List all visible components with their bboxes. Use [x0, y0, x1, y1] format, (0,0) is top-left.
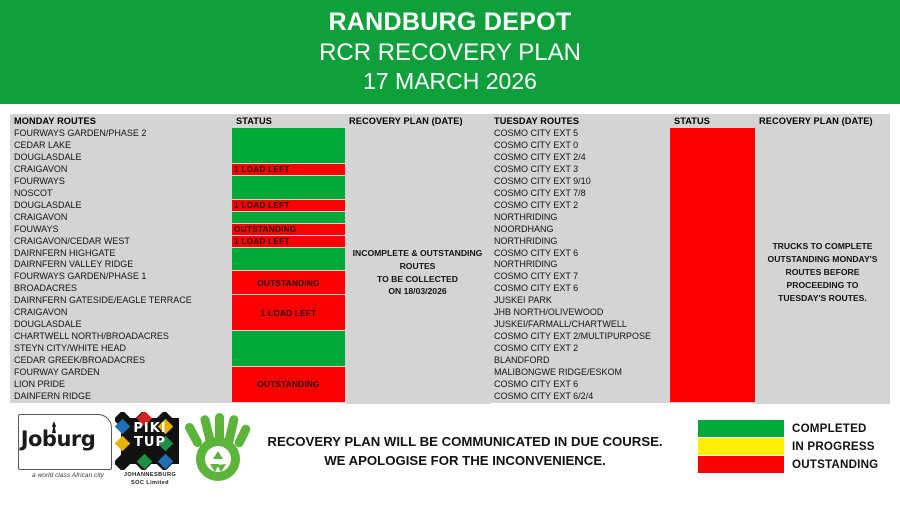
- legend-label: IN PROGRESS: [792, 440, 875, 453]
- monday-routes-column: MONDAY ROUTES FOURWAYS GARDEN/PHASE 2CED…: [10, 114, 232, 403]
- route-row: BROADACRES: [10, 283, 232, 295]
- legend-row: IN PROGRESS: [698, 438, 888, 455]
- route-row: CHARTWELL NORTH/BROADACRES: [10, 331, 232, 343]
- pikitup-sub1: JOHANNESBURG: [113, 471, 187, 479]
- route-row: COSMO CITY EXT 0: [490, 140, 670, 152]
- route-row: FOUWAYS: [10, 224, 232, 236]
- plan-note-line: TRUCKS TO COMPLETE OUTSTANDING MONDAY'S …: [761, 240, 884, 279]
- status-cell: [232, 176, 345, 200]
- route-row: CRAIGAVON: [10, 212, 232, 224]
- status-cell: OUTSTANDING: [232, 271, 345, 295]
- pikitup-sub2: SOC Limited: [113, 479, 187, 487]
- plan-date: 17 MARCH 2026: [363, 68, 537, 96]
- route-row: NORTHRIDING: [490, 259, 670, 271]
- depot-title: RANDBURG DEPOT: [328, 8, 571, 38]
- legend-swatch: [698, 456, 784, 473]
- tuesday-status-list: [670, 128, 755, 403]
- plan-note-line: TO BE COLLECTED: [351, 273, 484, 286]
- footer-message: RECOVERY PLAN WILL BE COMMUNICATED IN DU…: [255, 432, 675, 470]
- status-cell: [232, 212, 345, 224]
- route-row: FOURWAYS: [10, 176, 232, 188]
- status-cell: [232, 331, 345, 367]
- tuesday-status-column: STATUS: [670, 114, 755, 403]
- route-row: FOURWAYS GARDEN/PHASE 1: [10, 271, 232, 283]
- monday-status-header: STATUS: [232, 114, 345, 128]
- monday-routes-header: MONDAY ROUTES: [10, 114, 232, 128]
- route-row: COSMO CITY EXT 6: [490, 379, 670, 391]
- plan-note-line: INCOMPLETE & OUTSTANDING ROUTES: [351, 247, 484, 273]
- tuesday-status-header: STATUS: [670, 114, 755, 128]
- status-cell: 1 LOAD LEFT: [232, 295, 345, 331]
- legend-row: COMPLETED: [698, 420, 888, 437]
- pikitup-logo: PIKI TUP JOHANNESBURG SOC Limited: [115, 412, 185, 492]
- route-row: COSMO CITY EXT 5: [490, 128, 670, 140]
- tuesday-plan-note: TRUCKS TO COMPLETE OUTSTANDING MONDAY'S …: [755, 128, 890, 417]
- route-row: COSMO CITY EXT 7/8: [490, 188, 670, 200]
- pikitup-wordmark: PIKI TUP: [115, 422, 185, 450]
- poster-root: RANDBURG DEPOT RCR RECOVERY PLAN 17 MARC…: [0, 0, 900, 506]
- route-row: NOSCOT: [10, 188, 232, 200]
- legend-row: OUTSTANDING: [698, 456, 888, 473]
- route-row: DOUGLASDALE: [10, 200, 232, 212]
- route-row: COSMO CITY EXT 2/4: [490, 152, 670, 164]
- legend-label: OUTSTANDING: [792, 458, 878, 471]
- route-row: COSMO CITY EXT 2: [490, 200, 670, 212]
- route-row: COSMO CITY EXT 2/MULTIPURPOSE: [490, 331, 670, 343]
- poster-header: RANDBURG DEPOT RCR RECOVERY PLAN 17 MARC…: [0, 0, 900, 104]
- footer-message-line1: RECOVERY PLAN WILL BE COMMUNICATED IN DU…: [255, 432, 675, 451]
- joburg-wordmark: Joburg: [12, 412, 104, 466]
- route-row: COSMO CITY EXT 6: [490, 283, 670, 295]
- monday-status-list: 1 LOAD LEFT1 LOAD LEFTOUTSTANDING1 LOAD …: [232, 128, 345, 403]
- route-row: COSMO CITY EXT 9/10: [490, 176, 670, 188]
- legend-swatch: [698, 420, 784, 437]
- route-row: COSMO CITY EXT 2: [490, 343, 670, 355]
- route-row: DAIRNFERN GATESIDE/EAGLE TERRACE: [10, 295, 232, 307]
- route-row: MALIBONGWE RIDGE/ESKOM: [490, 367, 670, 379]
- plan-note-line: PROCEEDING TO: [761, 279, 884, 292]
- plan-title: RCR RECOVERY PLAN: [319, 39, 581, 68]
- route-row: COSMO CITY EXT 7: [490, 271, 670, 283]
- route-row: CEDAR GREEK/BROADACRES: [10, 355, 232, 367]
- route-row: BLANDFORD: [490, 355, 670, 367]
- green-hand-recycle-icon: [182, 412, 254, 484]
- route-row: DOUGLASDALE: [10, 319, 232, 331]
- tuesday-routes-list: COSMO CITY EXT 5COSMO CITY EXT 0COSMO CI…: [490, 128, 670, 403]
- plan-note-text: INCOMPLETE & OUTSTANDING ROUTESTO BE COL…: [351, 247, 484, 299]
- route-row: FOURWAYS GARDEN/PHASE 2: [10, 128, 232, 140]
- route-row: COSMO CITY EXT 6/2/4: [490, 391, 670, 403]
- status-legend: COMPLETEDIN PROGRESSOUTSTANDING: [698, 420, 888, 474]
- route-row: DAINFERN RIDGE: [10, 391, 232, 403]
- route-row: DOUGLASDALE: [10, 152, 232, 164]
- route-row: NOORDHANG: [490, 224, 670, 236]
- route-row: LION PRIDE: [10, 379, 232, 391]
- tuesday-plan-column: RECOVERY PLAN (DATE) TRUCKS TO COMPLETE …: [755, 114, 890, 403]
- route-row: NORTHRIDING: [490, 212, 670, 224]
- route-row: STEYN CITY/WHITE HEAD: [10, 343, 232, 355]
- pikitup-line1: PIKI: [115, 422, 185, 436]
- route-row: COSMO CITY EXT 3: [490, 164, 670, 176]
- status-cell: [232, 128, 345, 164]
- legend-label: COMPLETED: [792, 422, 867, 435]
- monday-status-column: STATUS 1 LOAD LEFT1 LOAD LEFTOUTSTANDING…: [232, 114, 345, 403]
- route-row: JUSKEI/FARMALL/CHARTWELL: [490, 319, 670, 331]
- route-row: COSMO CITY EXT 6: [490, 248, 670, 260]
- monday-plan-header: RECOVERY PLAN (DATE): [345, 114, 490, 128]
- status-cell: OUTSTANDING: [232, 224, 345, 236]
- route-row: JHB NORTH/OLIVEWOOD: [490, 307, 670, 319]
- legend-swatch: [698, 438, 784, 455]
- route-row: CRAIGAVON: [10, 307, 232, 319]
- pikitup-sublabel: JOHANNESBURG SOC Limited: [113, 471, 187, 487]
- status-cell: OUTSTANDING: [232, 367, 345, 403]
- status-cell: 1 LOAD LEFT: [232, 200, 345, 212]
- route-row: CRAIGAVON: [10, 164, 232, 176]
- pikitup-line2: TUP: [115, 436, 185, 450]
- plan-note-line: ON 18/03/2026: [351, 285, 484, 298]
- route-row: FOURWAY GARDEN: [10, 367, 232, 379]
- status-cell: [232, 248, 345, 272]
- tuesday-routes-header: TUESDAY ROUTES: [490, 114, 670, 128]
- route-row: JUSKEI PARK: [490, 295, 670, 307]
- monday-plan-note: INCOMPLETE & OUTSTANDING ROUTESTO BE COL…: [345, 128, 490, 417]
- route-row: CRAIGAVON/CEDAR WEST: [10, 236, 232, 248]
- route-row: DAIRNFERN HIGHGATE: [10, 248, 232, 260]
- status-cell: [670, 128, 755, 403]
- tuesday-routes-column: TUESDAY ROUTES COSMO CITY EXT 5COSMO CIT…: [490, 114, 670, 403]
- joburg-logo: Joburg a world class African city: [12, 412, 120, 492]
- status-cell: 1 LOAD LEFT: [232, 236, 345, 248]
- route-row: DAIRNFERN VALLEY RIDGE: [10, 259, 232, 271]
- routes-table: MONDAY ROUTES FOURWAYS GARDEN/PHASE 2CED…: [10, 114, 890, 403]
- footer-message-line2: WE APOLOGISE FOR THE INCONVENIENCE.: [255, 451, 675, 470]
- monday-routes-list: FOURWAYS GARDEN/PHASE 2CEDAR LAKEDOUGLAS…: [10, 128, 232, 403]
- plan-note-text: TRUCKS TO COMPLETE OUTSTANDING MONDAY'S …: [761, 240, 884, 304]
- monday-plan-column: RECOVERY PLAN (DATE) INCOMPLETE & OUTSTA…: [345, 114, 490, 403]
- route-row: CEDAR LAKE: [10, 140, 232, 152]
- plan-note-line: TUESDAY'S ROUTES.: [761, 292, 884, 305]
- tuesday-plan-header: RECOVERY PLAN (DATE): [755, 114, 890, 128]
- joburg-tagline: a world class African city: [12, 472, 124, 479]
- route-row: NORTHRIDING: [490, 236, 670, 248]
- poster-footer: Joburg a world class African city: [0, 404, 900, 506]
- status-cell: 1 LOAD LEFT: [232, 164, 345, 176]
